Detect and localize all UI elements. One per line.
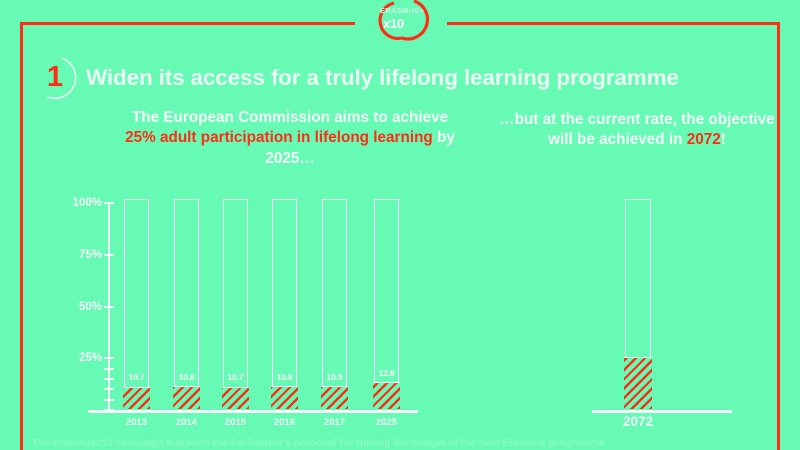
y-axis-tick — [104, 254, 114, 256]
infographic-canvas: ERASMUS+ x10 1 Widen its access for a tr… — [0, 0, 800, 450]
x-axis-label: 2072 — [613, 414, 663, 429]
chart-bar-value-label: 10.8 — [175, 372, 198, 382]
x-axis-label: 2017 — [310, 417, 359, 428]
chart-bar[interactable]: 12.8 — [374, 199, 399, 408]
y-axis-label: 25% — [46, 352, 102, 364]
chart-bar[interactable]: 10.7 — [124, 199, 149, 408]
step-number-badge: 1 — [32, 55, 78, 101]
intro-left-part1: The European Commission aims to achieve — [132, 109, 448, 126]
y-axis-tick — [104, 399, 114, 401]
chart-baseline-secondary — [592, 410, 732, 413]
y-axis-tick — [104, 357, 114, 359]
bar-chart: 100%75%50%25% 10.710.810.710.810.912.8 2… — [0, 185, 800, 430]
chart-bar[interactable]: 10.7 — [223, 199, 248, 408]
chart-bar[interactable]: 10.8 — [174, 199, 199, 408]
chart-y-axis — [108, 203, 110, 412]
y-axis-tick — [104, 368, 114, 370]
intro-right-part2: ! — [721, 131, 726, 148]
y-axis-tick — [104, 388, 114, 390]
y-axis-label: 50% — [46, 301, 102, 313]
x-axis-label: 2025 — [362, 417, 411, 428]
logo-multiplier: x10 — [383, 16, 404, 31]
y-axis-label: 75% — [46, 249, 102, 261]
chart-bar-fill — [624, 357, 651, 409]
chart-baseline-primary — [88, 410, 418, 413]
section-headline: 1 Widen its access for a truly lifelong … — [32, 55, 772, 101]
y-axis-tick — [104, 306, 114, 308]
chart-bar-value-label: 10.8 — [273, 372, 296, 382]
intro-right-part1: …but at the current rate, the objective … — [499, 111, 774, 148]
chart-bar-fill — [123, 387, 149, 409]
chart-bar[interactable]: 10.8 — [272, 199, 297, 408]
chart-bar[interactable]: 10.9 — [322, 199, 347, 408]
y-axis-tick — [104, 378, 114, 380]
chart-bar-fill — [173, 386, 199, 408]
chart-bar-value-label: 12.8 — [375, 368, 398, 378]
chart-bar-fill — [222, 387, 248, 409]
x-axis-label: 2015 — [211, 417, 260, 428]
chart-bar[interactable] — [625, 199, 651, 408]
x-axis-label: 2013 — [112, 417, 161, 428]
chart-bar-value-label: 10.7 — [125, 372, 148, 382]
intro-left-highlight: 25% adult participation in lifelong lear… — [125, 129, 433, 146]
intro-paragraph-right: …but at the current rate, the objective … — [492, 110, 782, 151]
page-title: Widen its access for a truly lifelong le… — [86, 65, 679, 91]
y-axis-tick — [104, 202, 114, 204]
intro-right-highlight: 2072 — [687, 131, 721, 148]
step-number: 1 — [32, 55, 78, 101]
y-axis-label: 100% — [46, 197, 102, 209]
logo-wordmark: ERASMUS+ — [380, 6, 430, 15]
intro-paragraph-left: The European Commission aims to achieve … — [116, 108, 464, 169]
chart-bar-fill — [321, 386, 347, 409]
footer-caption: The Erasmusx10 campaign supports the Par… — [32, 438, 772, 449]
erasmus-x10-logo[interactable]: ERASMUS+ x10 — [372, 0, 430, 45]
x-axis-label: 2014 — [162, 417, 211, 428]
chart-bar-value-label: 10.7 — [224, 372, 247, 382]
chart-bar-fill — [271, 386, 297, 408]
x-axis-label: 2016 — [260, 417, 309, 428]
chart-bar-fill — [373, 382, 399, 408]
chart-bar-value-label: 10.9 — [323, 372, 346, 382]
